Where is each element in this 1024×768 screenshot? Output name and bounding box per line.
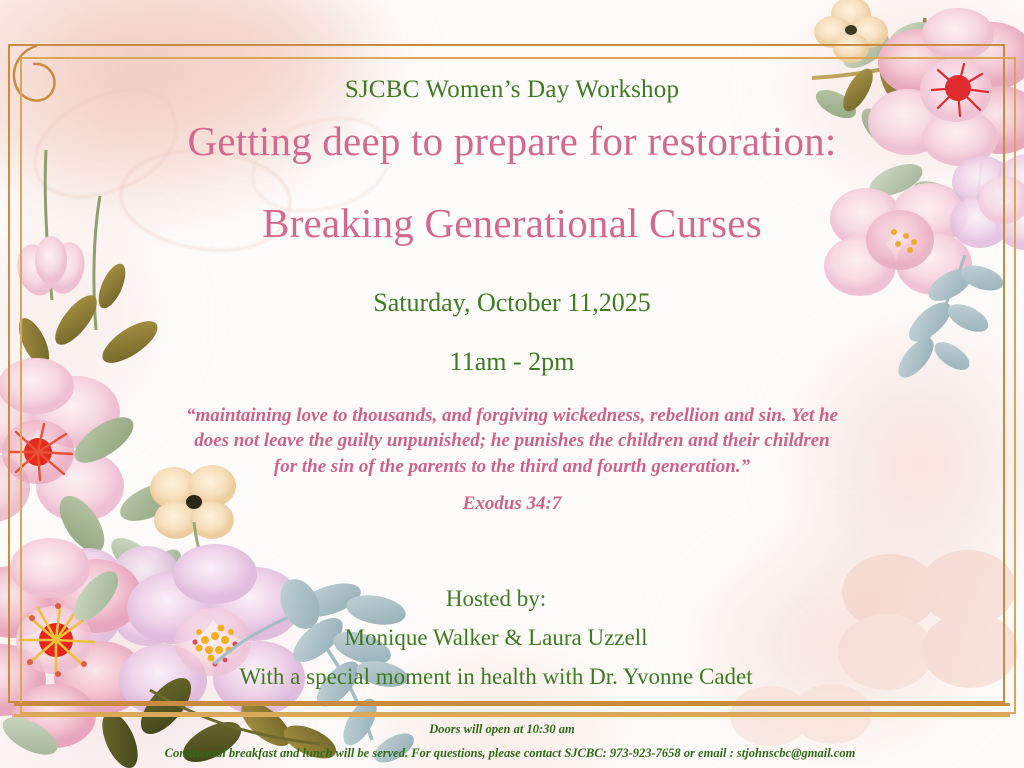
event-organization-label: SJCBC Women’s Day Workshop — [345, 76, 679, 104]
scripture-quote: “maintaining love to thousands, and forg… — [182, 403, 842, 479]
event-time: 11am - 2pm — [450, 347, 575, 377]
flyer-content: SJCBC Women’s Day Workshop Getting deep … — [0, 0, 1024, 768]
host-block: Hosted by: Monique Walker & Laura Uzzell… — [0, 586, 992, 690]
event-title-line-1: Getting deep to prepare for restoration: — [188, 121, 837, 162]
event-date: Saturday, October 11,2025 — [373, 288, 651, 318]
scripture-reference: Exodus 34:7 — [463, 493, 562, 515]
flyer-canvas: SJCBC Women’s Day Workshop Getting deep … — [0, 0, 1024, 768]
host-names: Monique Walker & Laura Uzzell — [345, 625, 648, 651]
host-special-guest: With a special moment in health with Dr.… — [239, 664, 752, 690]
host-label: Hosted by: — [446, 586, 546, 612]
event-title-line-2: Breaking Generational Curses — [262, 203, 762, 244]
